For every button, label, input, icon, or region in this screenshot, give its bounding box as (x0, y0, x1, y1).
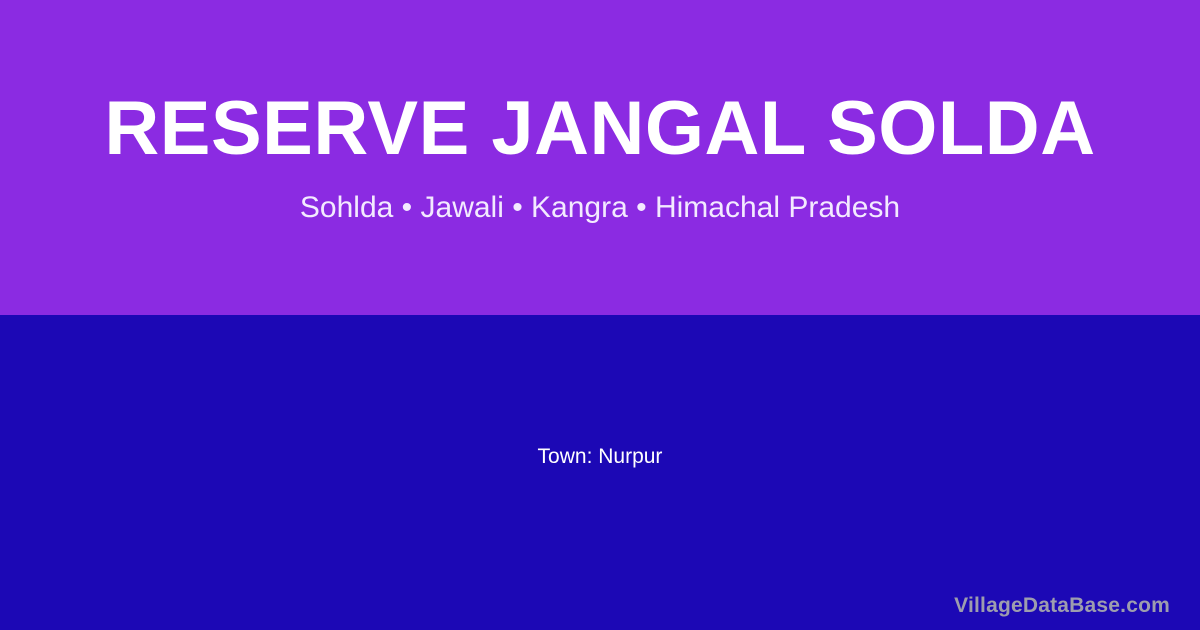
hero-banner: RESERVE JANGAL SOLDA Sohlda • Jawali • K… (0, 0, 1200, 315)
site-watermark: VillageDataBase.com (954, 593, 1170, 618)
page-title: RESERVE JANGAL SOLDA (104, 89, 1095, 169)
breadcrumb: Sohlda • Jawali • Kangra • Himachal Prad… (300, 190, 900, 226)
village-info-card: RESERVE JANGAL SOLDA Sohlda • Jawali • K… (0, 0, 1200, 630)
detail-list: Town: Nurpur (0, 315, 1200, 630)
detail-town: Town: Nurpur (538, 442, 663, 472)
details-panel: Town: Nurpur VillageDataBase.com (0, 315, 1200, 630)
